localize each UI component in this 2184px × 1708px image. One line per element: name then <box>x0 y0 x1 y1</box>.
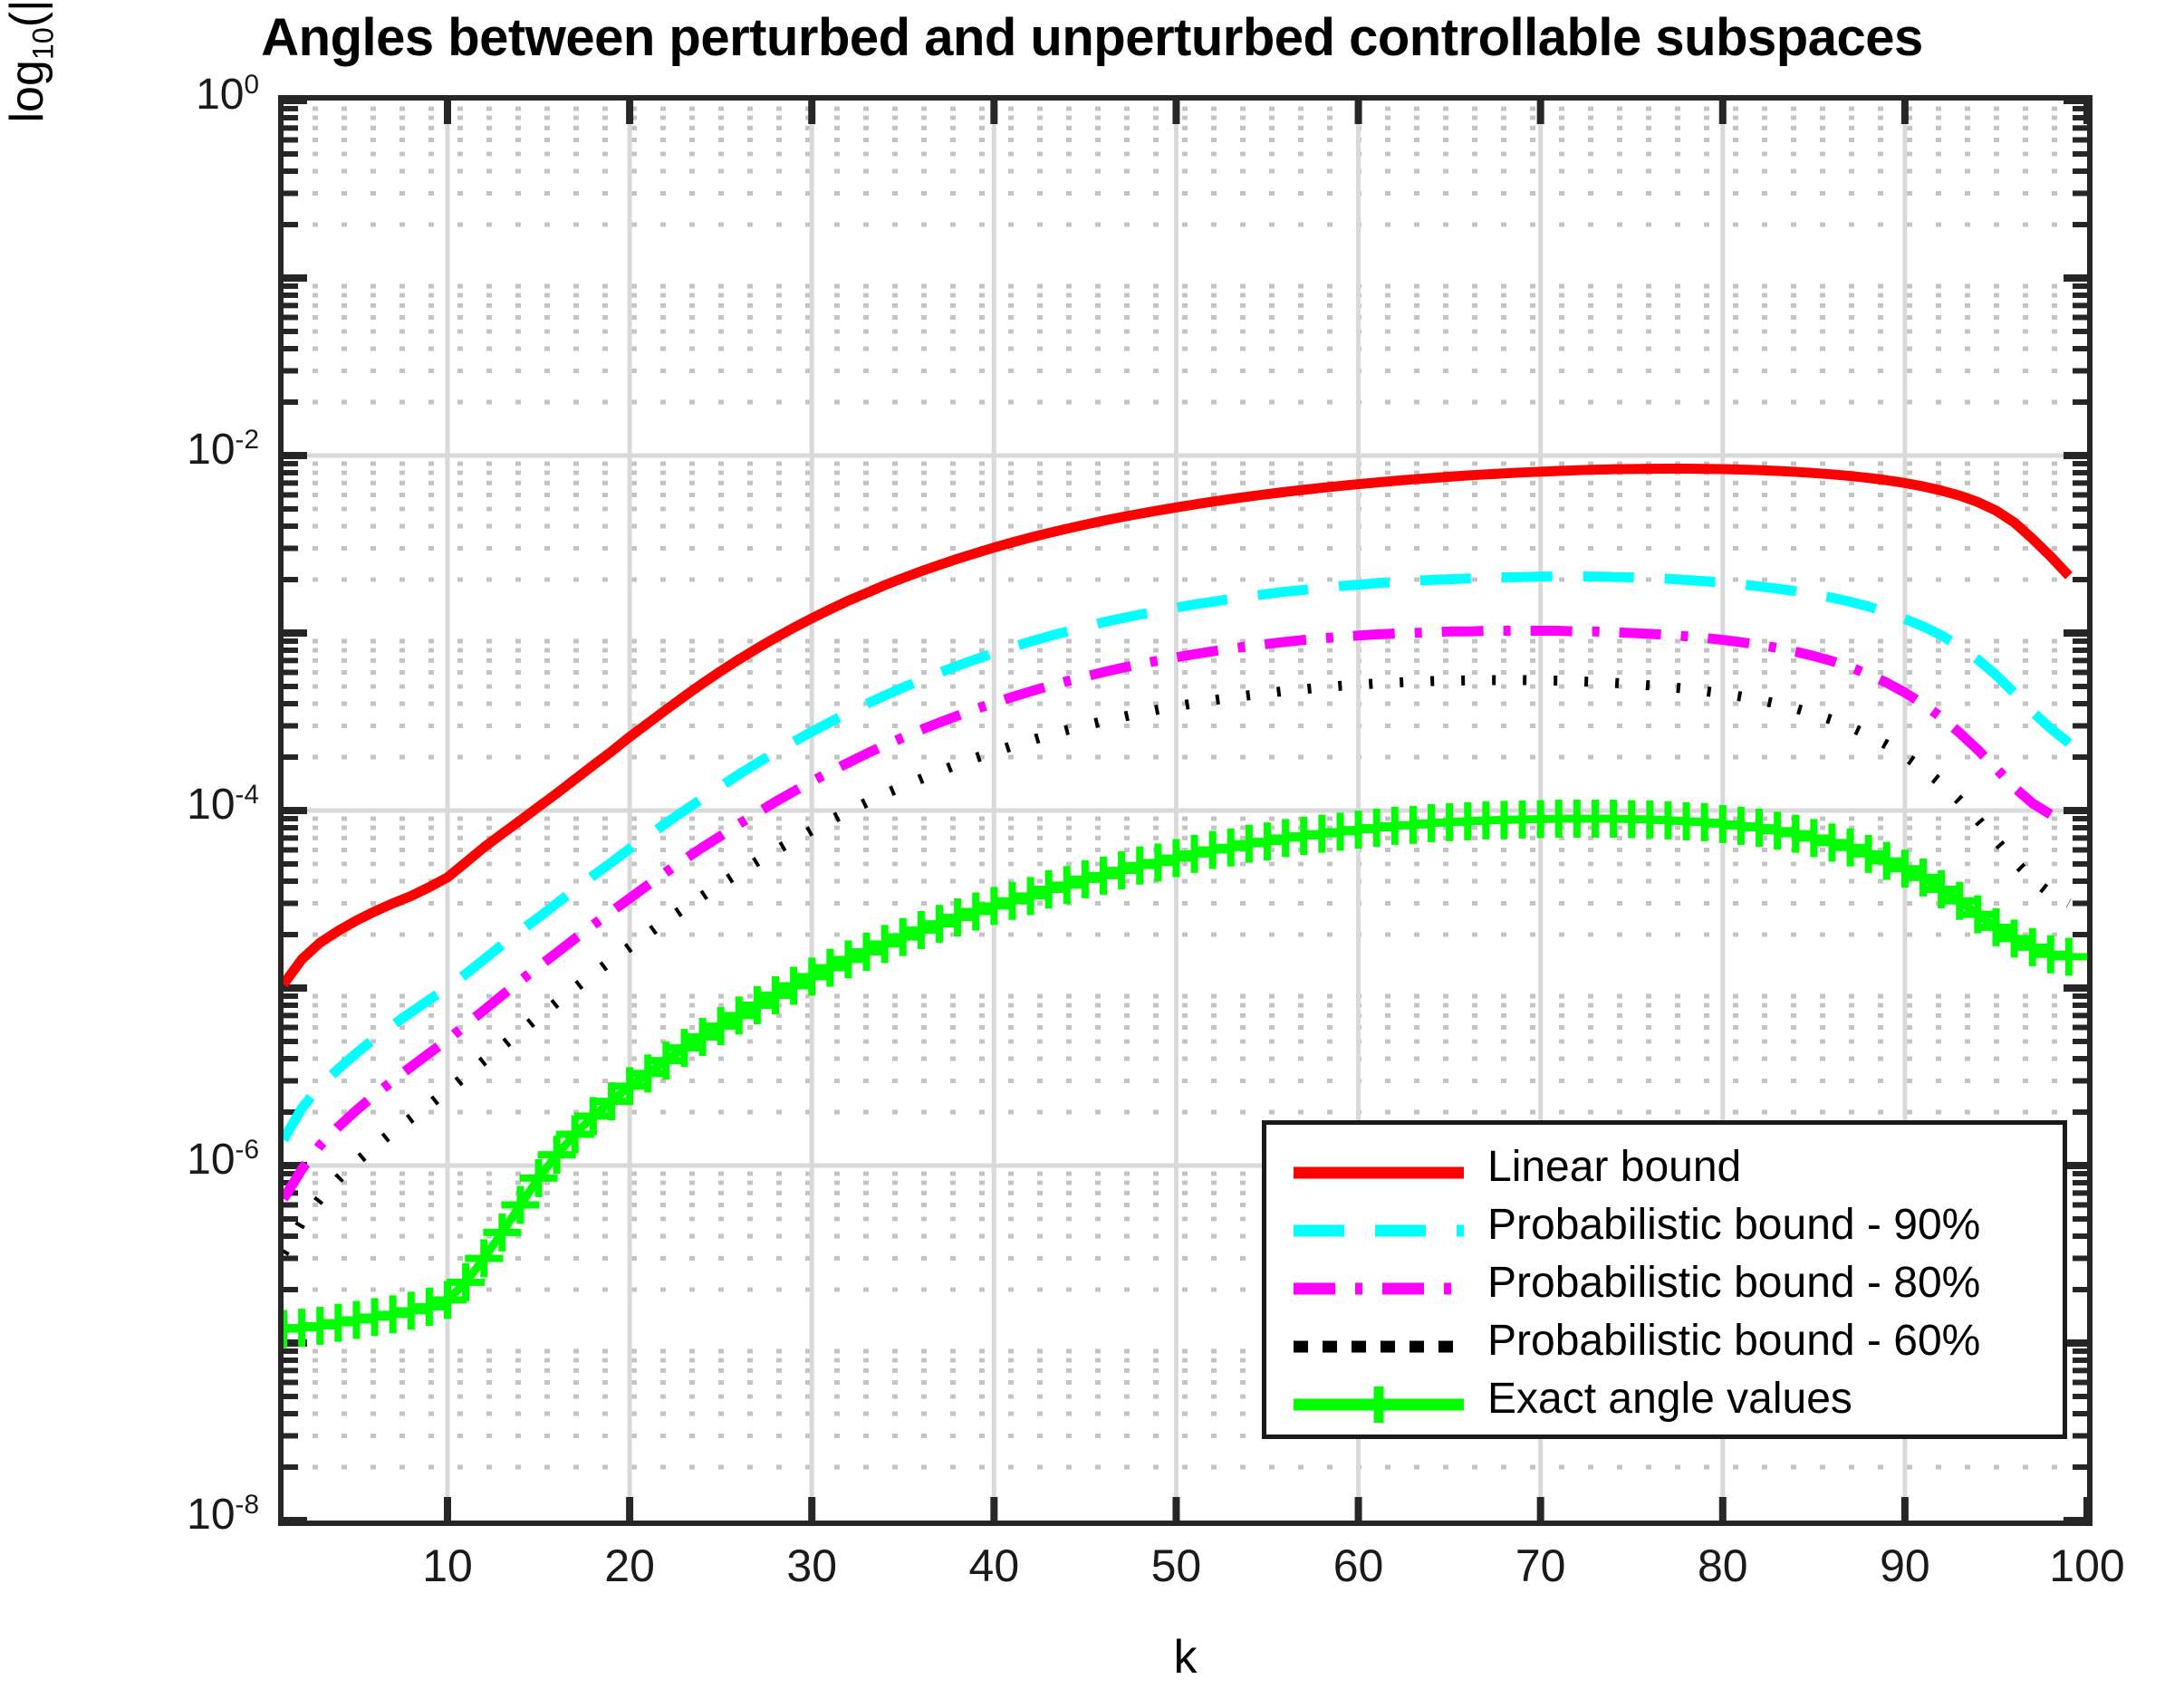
y-tick-label: 10-4 <box>187 780 259 830</box>
y-axis-label-wrapper: log10(|Θk|), log10(Θkprob), log10(Θklin) <box>0 0 63 272</box>
page-title: Angles between perturbed and unperturbed… <box>0 7 2184 68</box>
legend-swatch-prob-90 <box>1290 1211 1467 1238</box>
y-tick-base: 10 <box>187 781 235 829</box>
x-tick-label: 70 <box>1450 1540 1631 1592</box>
x-tick-label: 50 <box>1085 1540 1266 1592</box>
x-axis-label: k <box>278 1630 2093 1684</box>
x-tick-label: 80 <box>1632 1540 1814 1592</box>
x-tick-label: 90 <box>1814 1540 1996 1592</box>
legend-swatch-prob-80 <box>1290 1269 1467 1296</box>
y-tick-exponent: -2 <box>236 425 259 455</box>
x-tick-label: 30 <box>721 1540 902 1592</box>
legend-swatch-prob-60 <box>1290 1327 1467 1354</box>
y-tick-exponent: 0 <box>244 70 259 100</box>
legend-label: Probabilistic bound - 60% <box>1487 1316 1980 1366</box>
legend-item-prob-90[interactable]: Probabilistic bound - 90% <box>1266 1195 2063 1253</box>
legend-line-sample <box>1290 1327 1467 1367</box>
y-tick-base: 10 <box>187 1491 235 1539</box>
legend-label: Linear bound <box>1487 1142 1741 1192</box>
y-tick-label: 10-8 <box>187 1490 259 1540</box>
x-tick-label: 60 <box>1268 1540 1449 1592</box>
legend-label: Probabilistic bound - 90% <box>1487 1200 1980 1250</box>
legend-line-sample <box>1290 1269 1467 1309</box>
legend-line-sample <box>1290 1153 1467 1193</box>
y-tick-label: 10-2 <box>187 425 259 475</box>
y-tick-label: 10-6 <box>187 1135 259 1185</box>
legend-swatch-linear-bound <box>1290 1153 1467 1180</box>
y-tick-base: 10 <box>187 426 235 474</box>
y-tick-base: 10 <box>187 1136 235 1184</box>
y-tick-label: 100 <box>196 70 259 120</box>
y-tick-exponent: -8 <box>236 1490 259 1520</box>
y-tick-exponent: -6 <box>236 1135 259 1165</box>
legend-swatch-exact-angles <box>1290 1385 1467 1412</box>
legend-item-prob-60[interactable]: Probabilistic bound - 60% <box>1266 1311 2063 1369</box>
y-tick-base: 10 <box>196 71 244 119</box>
x-tick-label: 20 <box>539 1540 720 1592</box>
x-tick-label: 100 <box>1996 1540 2178 1592</box>
legend-label: Probabilistic bound - 80% <box>1487 1258 1980 1308</box>
x-tick-label: 10 <box>357 1540 538 1592</box>
legend-line-sample <box>1290 1211 1467 1251</box>
x-tick-label: 40 <box>903 1540 1084 1592</box>
legend-item-exact-angles[interactable]: Exact angle values <box>1266 1369 2063 1427</box>
legend-label: Exact angle values <box>1487 1374 1852 1424</box>
legend-item-linear-bound[interactable]: Linear bound <box>1266 1137 2063 1195</box>
y-tick-exponent: -4 <box>236 780 259 810</box>
legend-item-prob-80[interactable]: Probabilistic bound - 80% <box>1266 1253 2063 1311</box>
y-axis-label: log10(|Θk|), log10(Θkprob), log10(Θklin) <box>0 0 54 123</box>
legend-line-sample <box>1290 1385 1467 1425</box>
chart-legend[interactable]: Linear bound Probabilistic bound - 90% P… <box>1262 1120 2067 1439</box>
